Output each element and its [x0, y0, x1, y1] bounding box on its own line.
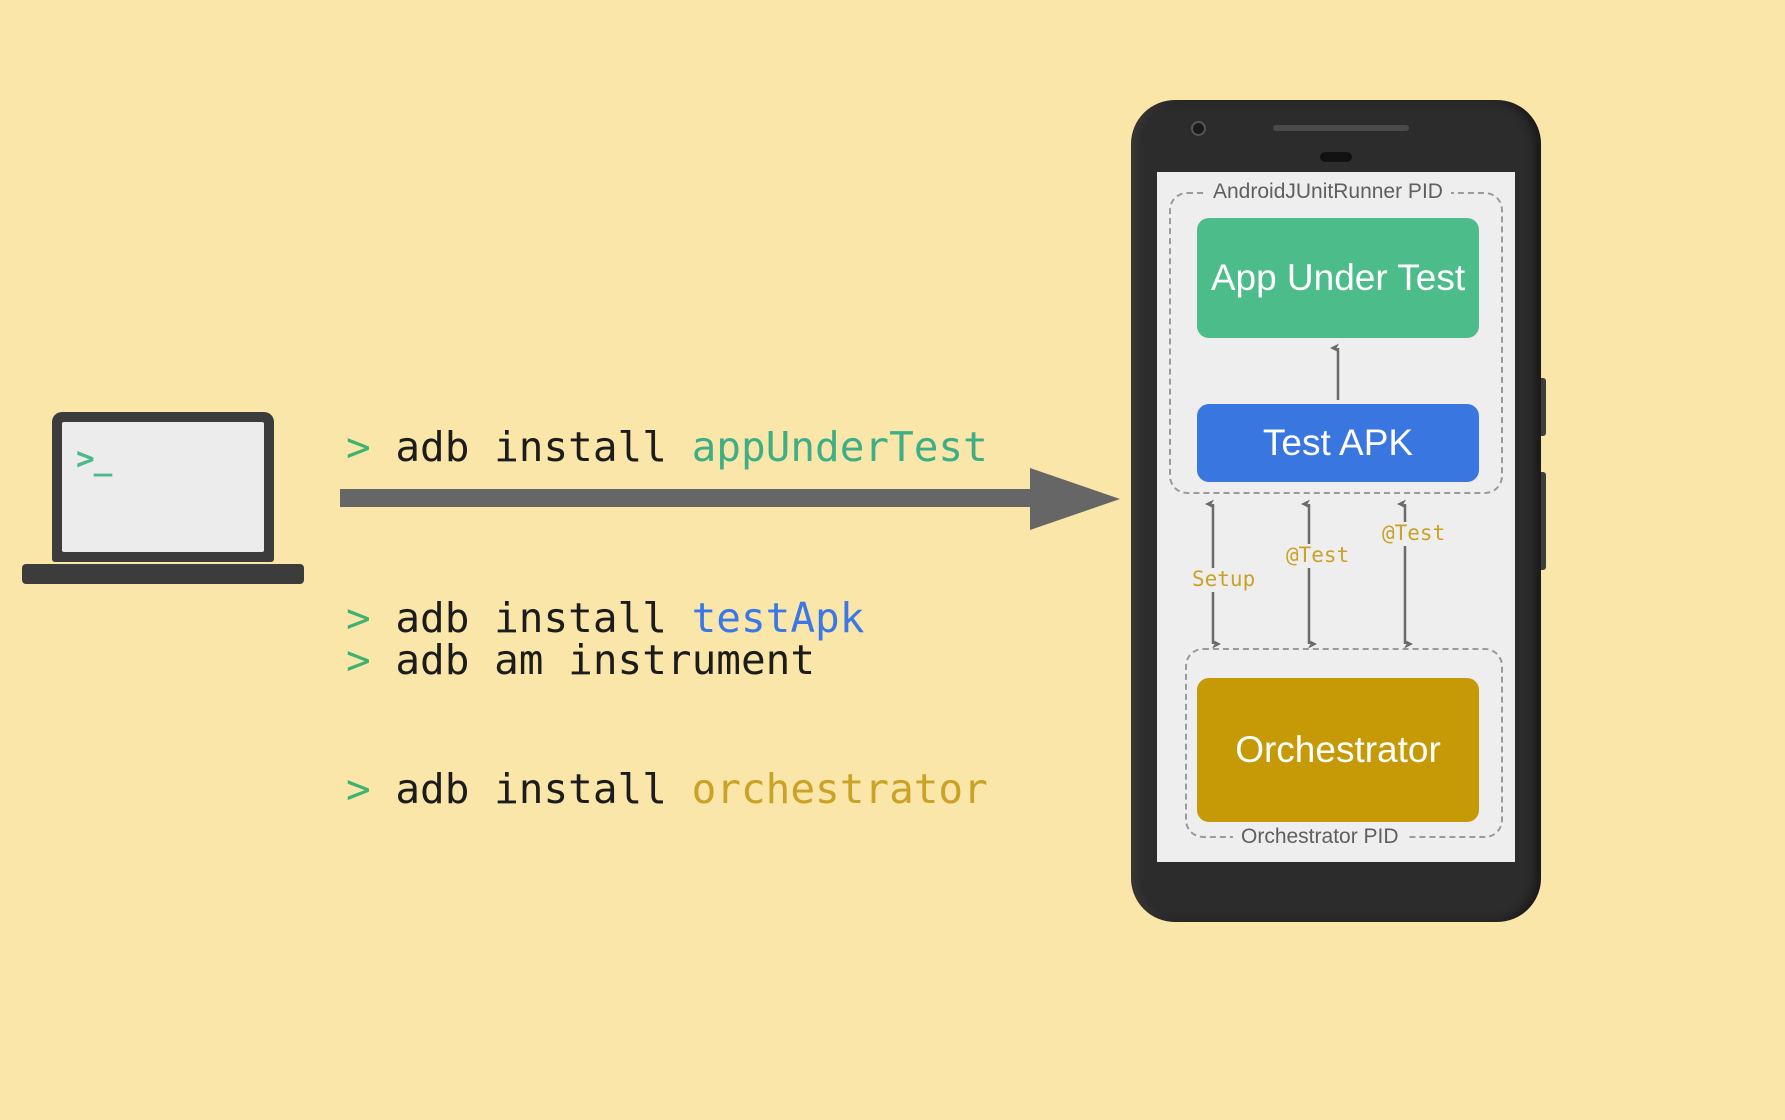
prompt-caret: > — [346, 636, 371, 684]
terminal-prompt-icon: >_ — [76, 444, 111, 475]
laptop-lid: >_ — [52, 412, 274, 562]
earpiece-speaker-icon — [1273, 125, 1409, 131]
power-button[interactable] — [1541, 472, 1546, 570]
box-orchestrator[interactable]: Orchestrator — [1197, 678, 1479, 822]
box-app-under-test[interactable]: App Under Test — [1197, 218, 1479, 338]
command-text: adb install — [371, 423, 692, 471]
group-label-orchestrator: Orchestrator PID — [1233, 826, 1407, 848]
command-argument: appUnderTest — [692, 423, 988, 471]
phone-screen: AndroidJUnitRunner PID Orchestrator PID … — [1157, 172, 1515, 862]
prompt-caret: > — [346, 765, 371, 813]
adb-instrument-command: > adb am instrument — [346, 518, 815, 746]
android-phone: AndroidJUnitRunner PID Orchestrator PID … — [1131, 100, 1541, 922]
box-test-apk[interactable]: Test APK — [1197, 404, 1479, 482]
command-argument: orchestrator — [692, 765, 988, 813]
command-line-instrument: > adb am instrument — [346, 632, 815, 689]
volume-button[interactable] — [1541, 378, 1546, 436]
flow-arrow-right-icon — [340, 468, 1120, 530]
laptop-base — [22, 564, 304, 584]
front-camera-icon — [1191, 121, 1206, 136]
prompt-caret: > — [346, 423, 371, 471]
command-line-install-orchestrator: > adb install orchestrator — [346, 761, 988, 818]
connector-label-test-right: @Test — [1379, 522, 1448, 544]
command-text: adb install — [371, 765, 692, 813]
proximity-sensor-icon — [1320, 152, 1352, 162]
connector-label-test-middle: @Test — [1283, 544, 1352, 566]
command-text: adb am instrument — [371, 636, 815, 684]
laptop-illustration: >_ — [22, 412, 304, 602]
group-label-androidjunitrunner: AndroidJUnitRunner PID — [1205, 181, 1451, 203]
laptop-screen: >_ — [62, 422, 264, 552]
connector-label-setup: Setup — [1189, 568, 1258, 590]
